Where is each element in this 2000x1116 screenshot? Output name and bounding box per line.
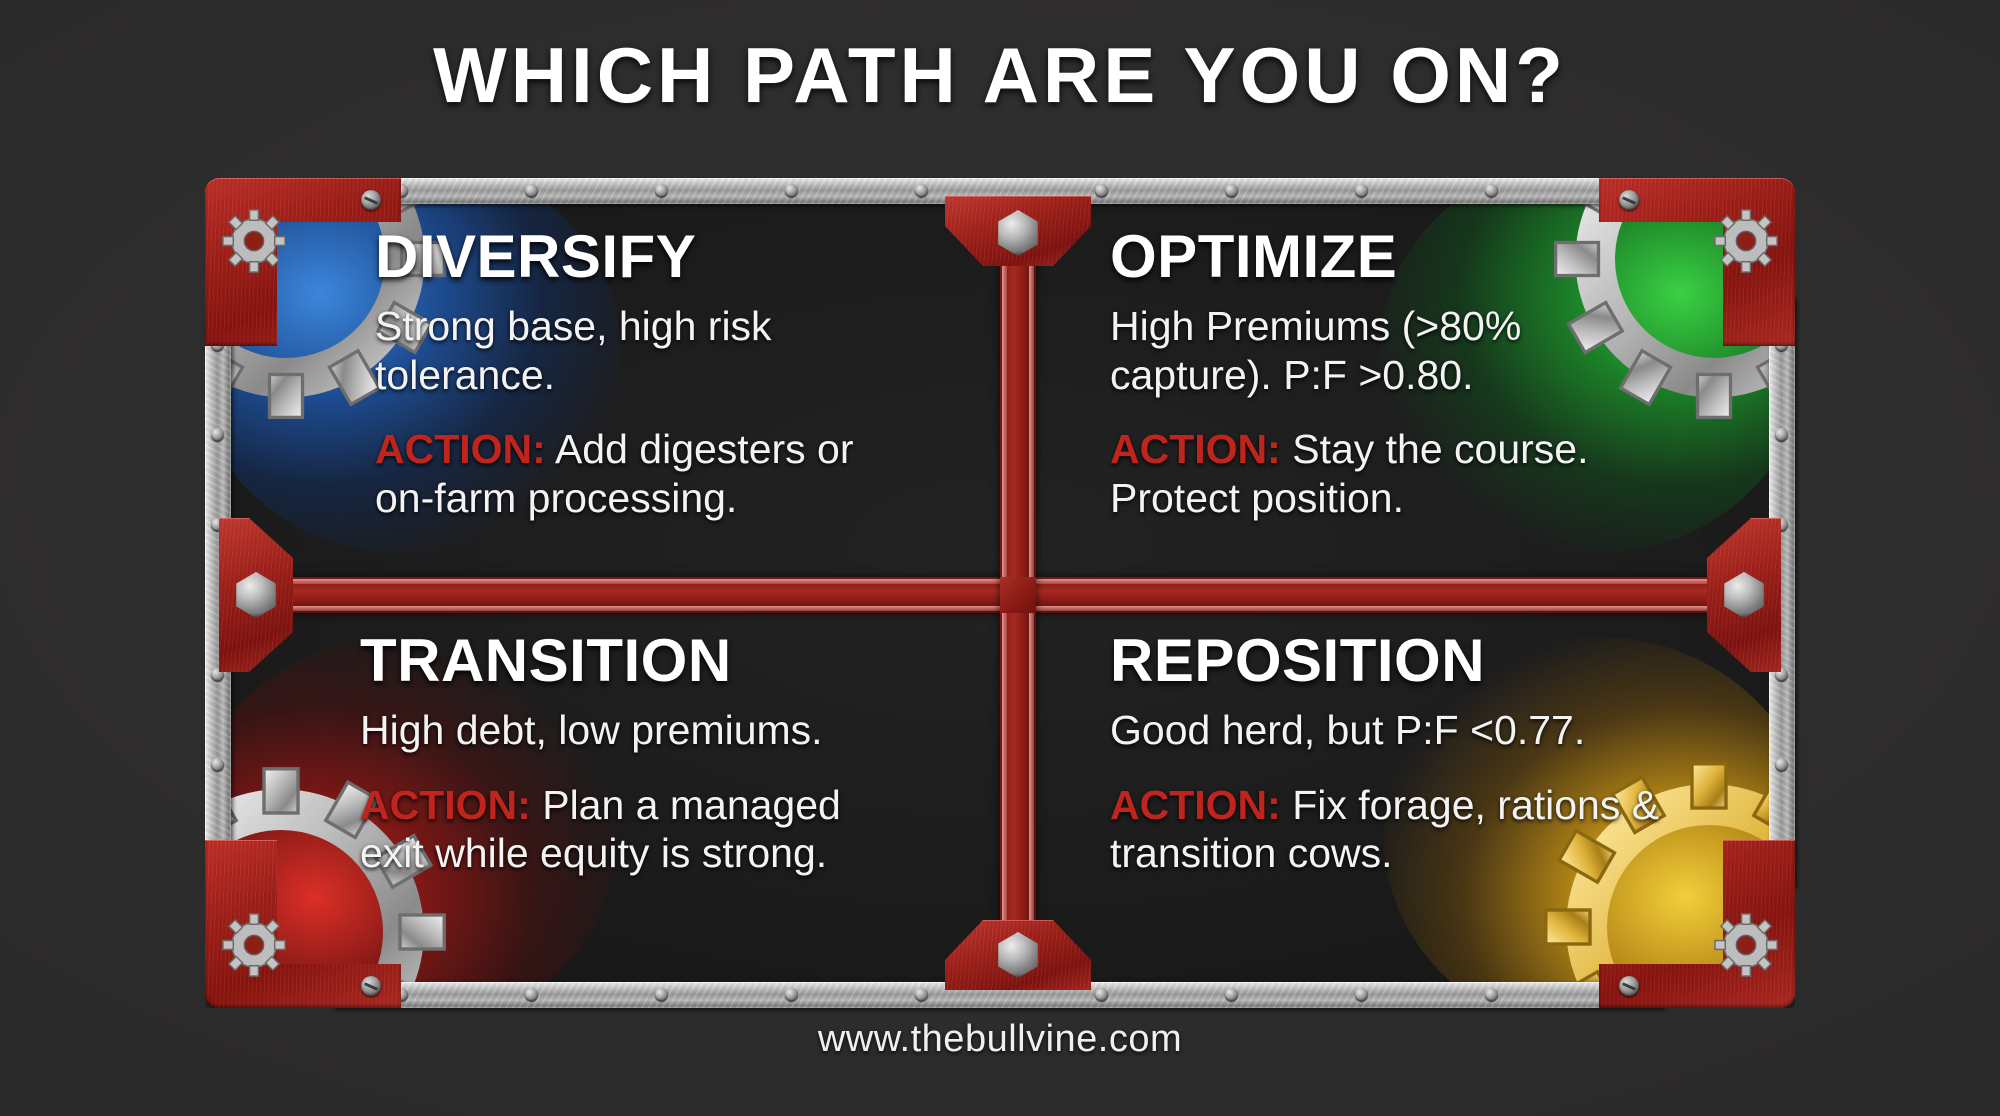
quadrant-title: DIVERSIFY bbox=[375, 226, 895, 288]
footer-url: www.thebullvine.com bbox=[0, 1018, 2000, 1061]
quadrant-transition: TRANSITION High debt, low premiums. ACTI… bbox=[360, 630, 905, 878]
gear-icon-top-left bbox=[217, 204, 291, 278]
screw-top-left bbox=[361, 190, 381, 210]
action-label: ACTION: bbox=[360, 782, 531, 828]
bracket-right bbox=[1691, 518, 1781, 672]
quadrant-optimize: OPTIMIZE High Premiums (>80% capture). P… bbox=[1110, 226, 1670, 522]
screw-top-right bbox=[1619, 190, 1639, 210]
quadrant-action: ACTION: Stay the course. Protect positio… bbox=[1110, 425, 1670, 522]
matrix-frame: DIVERSIFY Strong base, high risk toleran… bbox=[205, 178, 1795, 1008]
screw-bottom-left bbox=[361, 976, 381, 996]
bracket-bottom bbox=[945, 904, 1091, 990]
quadrant-action: ACTION: Plan a managed exit while equity… bbox=[360, 781, 905, 878]
action-label: ACTION: bbox=[1110, 782, 1281, 828]
gear-icon-bottom-right bbox=[1709, 908, 1783, 982]
cross-center-hub bbox=[1000, 577, 1036, 613]
page-title: WHICH PATH ARE YOU ON? bbox=[0, 30, 2000, 121]
quadrant-title: REPOSITION bbox=[1110, 630, 1680, 692]
action-label: ACTION: bbox=[1110, 426, 1281, 472]
quadrant-title: TRANSITION bbox=[360, 630, 905, 692]
quadrant-reposition: REPOSITION Good herd, but P:F <0.77. ACT… bbox=[1110, 630, 1680, 878]
quadrant-description: High Premiums (>80% capture). P:F >0.80. bbox=[1110, 302, 1670, 399]
bracket-left bbox=[219, 518, 309, 672]
action-label: ACTION: bbox=[375, 426, 546, 472]
quadrant-description: Good herd, but P:F <0.77. bbox=[1110, 706, 1680, 754]
quadrant-description: High debt, low premiums. bbox=[360, 706, 905, 754]
quadrant-description: Strong base, high risk tolerance. bbox=[375, 302, 895, 399]
screw-bottom-right bbox=[1619, 976, 1639, 996]
quadrant-title: OPTIMIZE bbox=[1110, 226, 1670, 288]
quadrant-diversify: DIVERSIFY Strong base, high risk toleran… bbox=[375, 226, 895, 522]
gear-icon-top-right bbox=[1709, 204, 1783, 278]
gear-icon-bottom-left bbox=[217, 908, 291, 982]
bracket-top bbox=[945, 196, 1091, 282]
quadrant-action: ACTION: Add digesters or on-farm process… bbox=[375, 425, 895, 522]
quadrant-action: ACTION: Fix forage, rations & transition… bbox=[1110, 781, 1680, 878]
